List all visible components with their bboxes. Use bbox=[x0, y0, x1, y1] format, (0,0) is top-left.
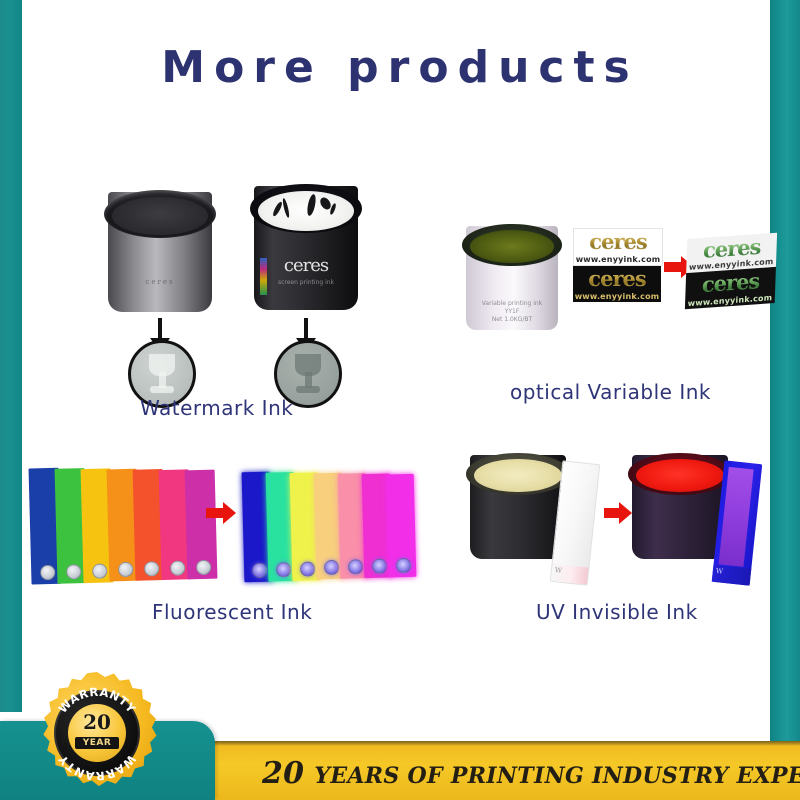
ceres-card-group-shifted: ceres www.enyyink.com ceres www.enyyink.… bbox=[685, 233, 777, 310]
teal-frame-left bbox=[0, 0, 22, 712]
warranty-badge: WARRANTY WARRANTY 20 YEAR bbox=[36, 672, 158, 794]
strip-seal-dot bbox=[395, 558, 410, 573]
ceres-card-black-gold: ceres www.enyyink.com bbox=[573, 266, 661, 302]
strip-seal-dot bbox=[371, 559, 386, 574]
banner-number: 20 bbox=[262, 756, 304, 791]
strip-seal-dot bbox=[66, 564, 81, 579]
can-ink-surface bbox=[258, 191, 354, 231]
watermark-pattern bbox=[159, 372, 166, 388]
strip-seal-dot bbox=[40, 565, 55, 580]
watermark-pattern bbox=[150, 386, 174, 393]
strip-seal-dot bbox=[143, 561, 158, 576]
page-title: More products bbox=[0, 42, 800, 93]
ceres-url: www.enyyink.com bbox=[574, 255, 662, 264]
teal-frame-right bbox=[770, 0, 800, 748]
fluorescent-strips-uv bbox=[242, 468, 420, 583]
strip-seal-dot bbox=[323, 560, 338, 575]
ceres-url: www.enyyink.com bbox=[573, 292, 661, 301]
uv-ink-can-glow bbox=[632, 455, 728, 559]
banner-text: 20YEARS OF PRINTING INDUSTRY EXPERIENCE bbox=[262, 756, 800, 791]
transform-arrow-icon bbox=[604, 508, 620, 518]
bucket-label-text: Variable printing ink YY1F Net 1.0KG/BT bbox=[466, 300, 558, 324]
banner-phrase: YEARS OF PRINTING INDUSTRY EXPERIENCE bbox=[314, 763, 800, 789]
transform-arrow-icon bbox=[206, 508, 224, 518]
ceres-card-white-gold: ceres www.enyyink.com bbox=[573, 228, 663, 266]
strip-seal-dot bbox=[118, 562, 133, 577]
ceres-brand: ceres bbox=[573, 268, 661, 290]
watermark-pattern bbox=[296, 386, 320, 393]
caption-watermark-ink: Watermark Ink bbox=[140, 396, 293, 420]
promo-slide: More products ceres ceres screen printin… bbox=[0, 0, 800, 800]
fluorescent-strip bbox=[386, 474, 417, 577]
strip-seal-dot bbox=[92, 563, 107, 578]
uv-ink-can-normal bbox=[470, 455, 566, 559]
badge-center: 20 YEAR bbox=[68, 704, 127, 763]
caption-fluorescent-ink: Fluorescent Ink bbox=[152, 600, 312, 624]
down-arrow-icon bbox=[304, 318, 308, 340]
bucket-label-line1: Variable printing ink bbox=[466, 300, 558, 308]
bucket-label-line3: Net 1.0KG/BT bbox=[466, 316, 558, 324]
fluorescent-strips-daylight bbox=[29, 464, 222, 585]
strip-footer: W bbox=[712, 565, 752, 586]
watermark-ink-can-dark: ceres bbox=[108, 192, 212, 312]
bucket-label-line2: YY1F bbox=[466, 308, 558, 316]
strip-glow-area bbox=[719, 467, 754, 567]
down-arrow-icon bbox=[158, 318, 162, 340]
strip-seal-dot bbox=[169, 560, 184, 575]
fluorescent-strip bbox=[185, 470, 218, 580]
experience-banner: 20YEARS OF PRINTING INDUSTRY EXPERIENCE bbox=[132, 741, 800, 800]
strip-seal-dot bbox=[347, 559, 362, 574]
badge-unit: YEAR bbox=[75, 737, 119, 749]
strip-mark: W bbox=[554, 566, 562, 575]
strip-seal-dot bbox=[299, 561, 314, 576]
optical-variable-ink-bucket: Variable printing ink YY1F Net 1.0KG/BT bbox=[466, 226, 558, 330]
can-brand-label: ceres bbox=[254, 255, 358, 276]
ceres-card-black-green: ceres www.enyyink.com bbox=[685, 267, 776, 309]
strip-footer: W bbox=[551, 564, 589, 584]
can-label-text: ceres bbox=[108, 278, 212, 286]
strip-seal-dot bbox=[251, 563, 266, 578]
can-ink-surface bbox=[112, 197, 208, 235]
watermark-pattern bbox=[305, 372, 312, 388]
strip-seal-dot bbox=[275, 562, 290, 577]
caption-uv-invisible-ink: UV Invisible Ink bbox=[536, 600, 698, 624]
strip-seal-dot bbox=[195, 560, 210, 575]
can-sub-label: screen printing ink bbox=[254, 279, 358, 286]
ink-splatter bbox=[282, 198, 291, 218]
ink-splatter bbox=[306, 194, 317, 217]
transform-arrow-icon bbox=[664, 262, 682, 272]
banner-top-shade bbox=[132, 741, 800, 746]
watermark-ink-can-white: ceres screen printing ink bbox=[254, 186, 358, 310]
caption-optical-variable-ink: optical Variable Ink bbox=[510, 380, 711, 404]
strip-mark: W bbox=[716, 567, 724, 576]
badge-number: 20 bbox=[68, 712, 127, 732]
ceres-brand: ceres bbox=[574, 231, 662, 253]
